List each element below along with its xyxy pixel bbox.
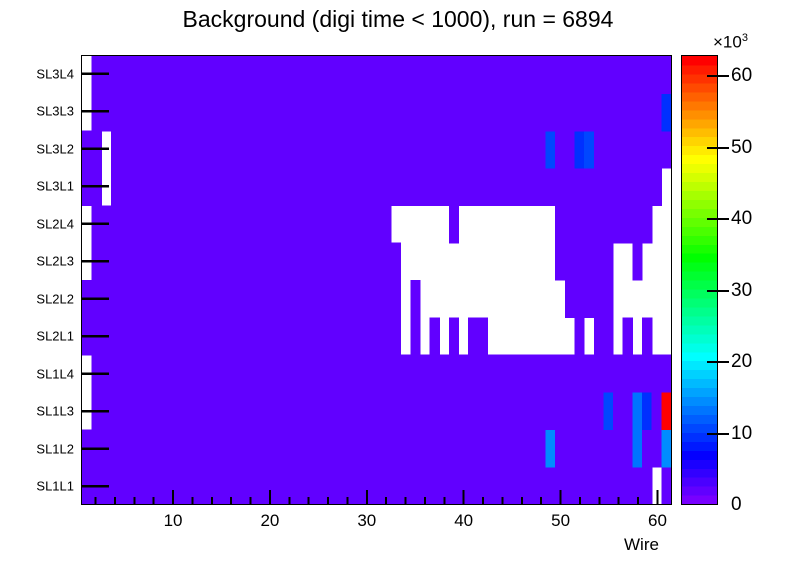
color-scale-tick-label-0: 0: [731, 494, 742, 516]
color-scale-tick-mark: [707, 433, 729, 435]
root-canvas: Background (digi time < 1000), run = 689…: [0, 0, 796, 572]
color-scale-tick-label-40: 40: [731, 208, 752, 230]
color-scale-tick-mark: [707, 147, 729, 149]
color-scale-tick-mark: [707, 218, 729, 220]
color-scale-tick-mark: [707, 290, 729, 292]
color-scale-tick-label-60: 60: [731, 65, 752, 87]
color-scale-tick-label-50: 50: [731, 137, 752, 159]
color-scale-tick-label-20: 20: [731, 351, 752, 373]
color-scale-tick-label-10: 10: [731, 423, 752, 445]
color-scale-exponent-power: 3: [742, 32, 748, 44]
color-scale-tick-mark: [707, 75, 729, 77]
color-scale-tick-label-30: 30: [731, 280, 752, 302]
color-scale-exponent: ×103: [713, 32, 748, 53]
color-scale-tick-mark: [707, 361, 729, 363]
color-scale-exponent-base: ×10: [713, 33, 742, 52]
color-scale-tick-labels: 0102030405060: [0, 0, 796, 572]
